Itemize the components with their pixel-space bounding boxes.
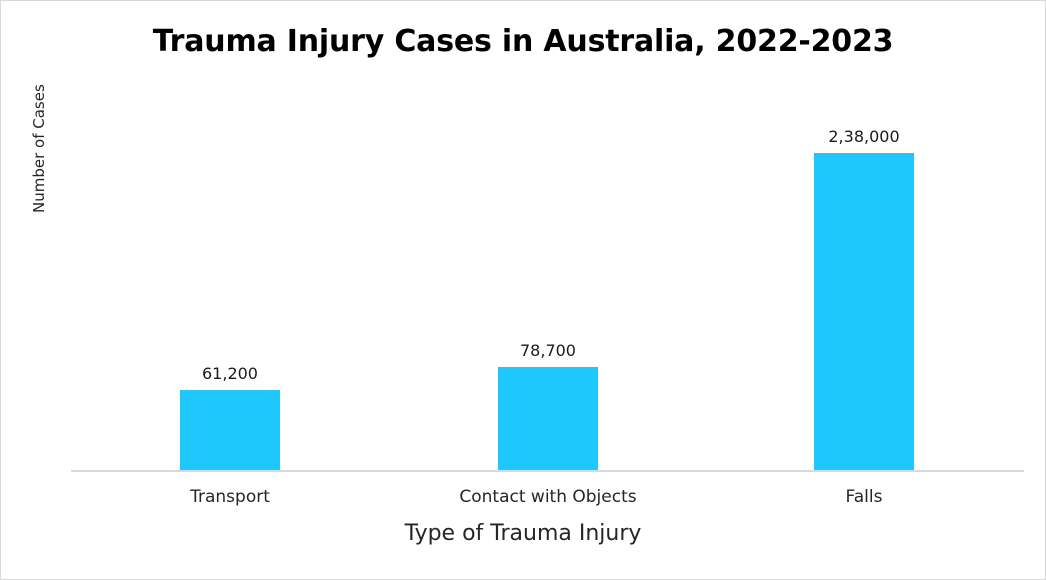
bar-value-label: 78,700 (453, 341, 643, 361)
plot-area: 61,200 78,700 2,38,000 (71, 61, 1024, 472)
x-tick-label-contact-with-objects: Contact with Objects (418, 485, 678, 509)
bar-transport[interactable] (180, 390, 280, 472)
chart-title: Trauma Injury Cases in Australia, 2022-2… (1, 22, 1045, 62)
x-tick-label-falls: Falls (734, 485, 994, 509)
x-tick-label-transport: Transport (100, 485, 360, 509)
y-axis-title: Number of Cases (28, 33, 50, 213)
bar-chart: Trauma Injury Cases in Australia, 2022-2… (0, 0, 1046, 580)
category-axis-line (71, 470, 1024, 472)
bar-contact-with-objects[interactable] (498, 367, 598, 472)
bar-value-label: 61,200 (135, 364, 325, 384)
bar-falls[interactable] (814, 153, 914, 472)
bar-value-label: 2,38,000 (769, 127, 959, 147)
x-axis-title: Type of Trauma Injury (1, 519, 1045, 549)
